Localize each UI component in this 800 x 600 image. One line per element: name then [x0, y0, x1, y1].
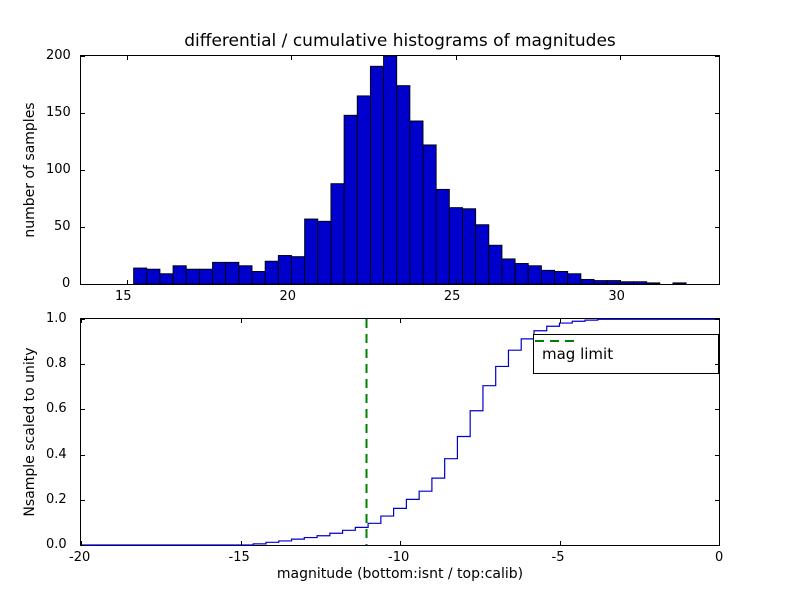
y-tick-bottom	[81, 364, 85, 365]
y-tick-top-mirror	[715, 56, 719, 57]
y-tick-top-mirror	[715, 113, 719, 114]
y-tick-label-bottom: 1.0	[46, 311, 67, 326]
histogram-bar	[239, 266, 252, 284]
histogram-bar	[291, 257, 304, 284]
x-tick-bottom-mirror	[241, 319, 242, 323]
x-tick-label-top: 25	[444, 289, 461, 304]
histogram-bar	[436, 189, 449, 284]
y-tick-label-top: 50	[54, 219, 71, 234]
x-axis-label: magnitude (bottom:isnt / top:calib)	[80, 566, 720, 582]
y-tick-label-bottom: 0.4	[46, 447, 67, 462]
y-tick-top	[81, 284, 85, 285]
y-axis-label-top: number of samples	[22, 55, 38, 285]
x-tick-label-bottom: 0	[715, 550, 723, 565]
y-tick-bottom	[81, 409, 85, 410]
histogram-bar	[147, 269, 160, 284]
x-tick-top	[620, 280, 621, 284]
histogram-bar	[278, 256, 291, 285]
histogram-bar	[647, 283, 660, 284]
histogram-bar	[476, 225, 489, 284]
histogram-bar	[305, 219, 318, 284]
y-tick-label-bottom: 0.2	[46, 492, 67, 507]
y-tick-bottom-mirror	[715, 409, 719, 410]
y-tick-top	[81, 113, 85, 114]
y-tick-bottom	[81, 500, 85, 501]
y-tick-bottom-mirror	[715, 500, 719, 501]
histogram-bar	[160, 274, 173, 284]
x-tick-label-top: 15	[115, 289, 132, 304]
histogram-bar	[318, 221, 331, 284]
x-tick-top	[456, 280, 457, 284]
histogram-bar	[384, 56, 397, 284]
y-tick-bottom-mirror	[715, 455, 719, 456]
histogram-bar	[502, 259, 515, 284]
histogram-bar	[410, 121, 423, 284]
x-tick-top-mirror	[291, 56, 292, 60]
histogram-bar	[555, 271, 568, 284]
histogram-bar	[489, 245, 502, 284]
figure: differential / cumulative histograms of …	[0, 0, 800, 600]
histogram-bar	[199, 269, 212, 284]
x-tick-bottom-mirror	[560, 319, 561, 323]
histogram-bar	[515, 263, 528, 284]
x-tick-label-bottom: -10	[388, 550, 409, 565]
x-tick-bottom	[560, 541, 561, 545]
histogram-bar	[449, 208, 462, 284]
x-tick-top-mirror	[456, 56, 457, 60]
x-tick-bottom	[241, 541, 242, 545]
y-tick-top-mirror	[715, 170, 719, 171]
histogram-bar	[331, 184, 344, 284]
histogram-bar	[186, 269, 199, 284]
histogram-bar	[581, 279, 594, 284]
y-tick-bottom-mirror	[715, 545, 719, 546]
histogram-plot-area	[81, 56, 719, 284]
x-tick-top-mirror	[127, 56, 128, 60]
histogram-bar	[252, 271, 265, 284]
histogram-bar	[607, 281, 620, 284]
y-tick-bottom	[81, 319, 85, 320]
y-tick-label-bottom: 0.8	[46, 356, 67, 371]
histogram-bar	[568, 274, 581, 284]
y-tick-bottom	[81, 455, 85, 456]
histogram-bar	[528, 266, 541, 284]
y-tick-top-mirror	[715, 284, 719, 285]
histogram-bar	[594, 281, 607, 284]
y-tick-bottom-mirror	[715, 319, 719, 320]
histogram-bar	[173, 266, 186, 284]
y-tick-label-top: 0	[62, 276, 70, 291]
x-tick-label-top: 20	[279, 289, 296, 304]
x-tick-bottom-mirror	[400, 319, 401, 323]
y-tick-bottom	[81, 545, 85, 546]
y-tick-label-top: 150	[46, 105, 71, 120]
histogram-bar	[370, 66, 383, 284]
histogram-bars	[134, 56, 686, 284]
histogram-bar	[397, 86, 410, 284]
x-tick-label-bottom: -5	[552, 550, 565, 565]
y-tick-top-mirror	[715, 227, 719, 228]
chart-title: differential / cumulative histograms of …	[80, 31, 720, 51]
x-tick-label-bottom: -20	[69, 550, 90, 565]
histogram-bar	[213, 262, 226, 284]
y-tick-label-bottom: 0.6	[46, 401, 67, 416]
y-tick-label-top: 200	[46, 48, 71, 63]
x-tick-bottom	[719, 541, 720, 545]
histogram-bar	[226, 262, 239, 284]
histogram-bar	[620, 282, 633, 284]
x-tick-label-top: 30	[608, 289, 625, 304]
histogram-bar	[357, 96, 370, 284]
legend: mag limit	[533, 334, 719, 374]
histogram-bar	[673, 283, 686, 284]
y-tick-label-bottom: 0.0	[46, 537, 67, 552]
y-axis-label-bottom: Nsample scaled to unity	[22, 318, 38, 546]
histogram-bar	[344, 115, 357, 284]
x-tick-label-bottom: -15	[229, 550, 250, 565]
histogram-bar	[633, 282, 646, 284]
histogram-bar	[462, 209, 475, 284]
legend-line-sample	[534, 335, 576, 347]
histogram-bar	[265, 261, 278, 284]
x-tick-bottom-mirror	[719, 319, 720, 323]
y-tick-label-top: 100	[46, 162, 71, 177]
y-tick-top	[81, 227, 85, 228]
x-tick-top-mirror	[620, 56, 621, 60]
histogram-bar	[423, 145, 436, 284]
legend-label-mag-limit: mag limit	[542, 345, 613, 363]
x-tick-top	[291, 280, 292, 284]
y-tick-top	[81, 56, 85, 57]
histogram-bar	[541, 270, 554, 284]
x-tick-bottom	[400, 541, 401, 545]
histogram-bar	[134, 268, 147, 284]
y-tick-bottom-mirror	[715, 364, 719, 365]
y-tick-top	[81, 170, 85, 171]
x-tick-top	[127, 280, 128, 284]
histogram-panel	[80, 55, 720, 285]
